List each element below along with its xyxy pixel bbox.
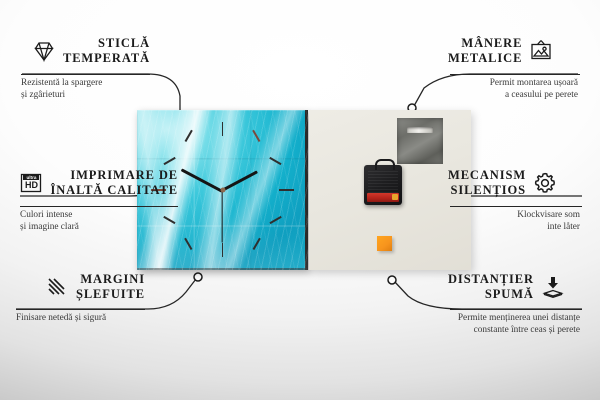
hanger-slot <box>407 127 433 133</box>
hour-tick-3 <box>279 189 294 191</box>
feature-head: MECANISM SILENȚIOS <box>448 168 582 198</box>
diamond-icon <box>32 39 56 63</box>
hour-tick-6 <box>222 243 224 257</box>
feature-title: MECANISM SILENȚIOS <box>448 168 526 198</box>
leader-dot-polished-edges <box>194 273 202 281</box>
feature-rule <box>21 74 150 75</box>
feature-title: DISTANȚIER SPUMĂ <box>448 272 534 302</box>
feature-head: ultra HD IMPRIMARE DE ÎNALTĂ CALITATE <box>19 168 178 198</box>
picture-frame-hanger-icon <box>529 39 553 63</box>
feature-subtitle: Permite menținerea unei distanțe constan… <box>458 313 580 336</box>
clock-back-panel <box>309 110 471 270</box>
ultra-hd-icon: ultra HD <box>19 171 43 195</box>
feature-title: IMPRIMARE DE ÎNALTĂ CALITATE <box>50 168 178 198</box>
battery <box>367 193 399 202</box>
feature-subtitle: Klockvisare som inte låter <box>517 210 580 233</box>
feature-rule <box>450 309 582 310</box>
feature-title: MARGINI ȘLEFUITE <box>76 272 145 302</box>
feature-title: MÂNERE METALICE <box>448 36 522 66</box>
feature-rule <box>450 74 580 75</box>
feature-rule <box>16 309 145 310</box>
hands-center-pin <box>220 188 225 193</box>
second-hand <box>221 191 222 243</box>
feature-title: STICLĂ TEMPERATĂ <box>63 36 150 66</box>
feature-head: MARGINI ȘLEFUITE <box>45 272 145 302</box>
feature-subtitle: Permit montarea ușoară a ceasului pe per… <box>490 78 578 101</box>
metal-hanger-plate <box>397 118 443 164</box>
feature-subtitle: Finisare netedă și sigură <box>16 313 106 325</box>
feature-subtitle: Rezistentă la spargere și zgârieturi <box>21 78 102 101</box>
feature-head: DISTANȚIER SPUMĂ <box>448 272 582 302</box>
battery-plus-terminal <box>392 194 398 200</box>
gear-icon <box>533 171 557 195</box>
mechanism-texture <box>368 171 398 193</box>
mechanism-bail <box>375 159 395 170</box>
feature-head: STICLĂ TEMPERATĂ <box>32 36 150 66</box>
ultra-hd-icon-label-bottom: HD <box>22 181 40 190</box>
hour-tick-12 <box>222 122 224 136</box>
feature-rule <box>20 206 178 207</box>
infographic-canvas: STICLĂ TEMPERATĂ Rezistentă la spargere … <box>0 0 600 400</box>
feature-rule <box>450 206 582 207</box>
leader-dot-foam-spacer <box>388 276 396 284</box>
quartz-mechanism-box <box>364 165 402 205</box>
spacer-arrow-icon <box>541 275 565 299</box>
feature-head: MÂNERE METALICE <box>448 36 580 66</box>
feature-subtitle: Culori intense și imagine clară <box>20 210 79 233</box>
polished-edges-icon <box>45 275 69 299</box>
foam-spacer-square <box>377 236 392 251</box>
